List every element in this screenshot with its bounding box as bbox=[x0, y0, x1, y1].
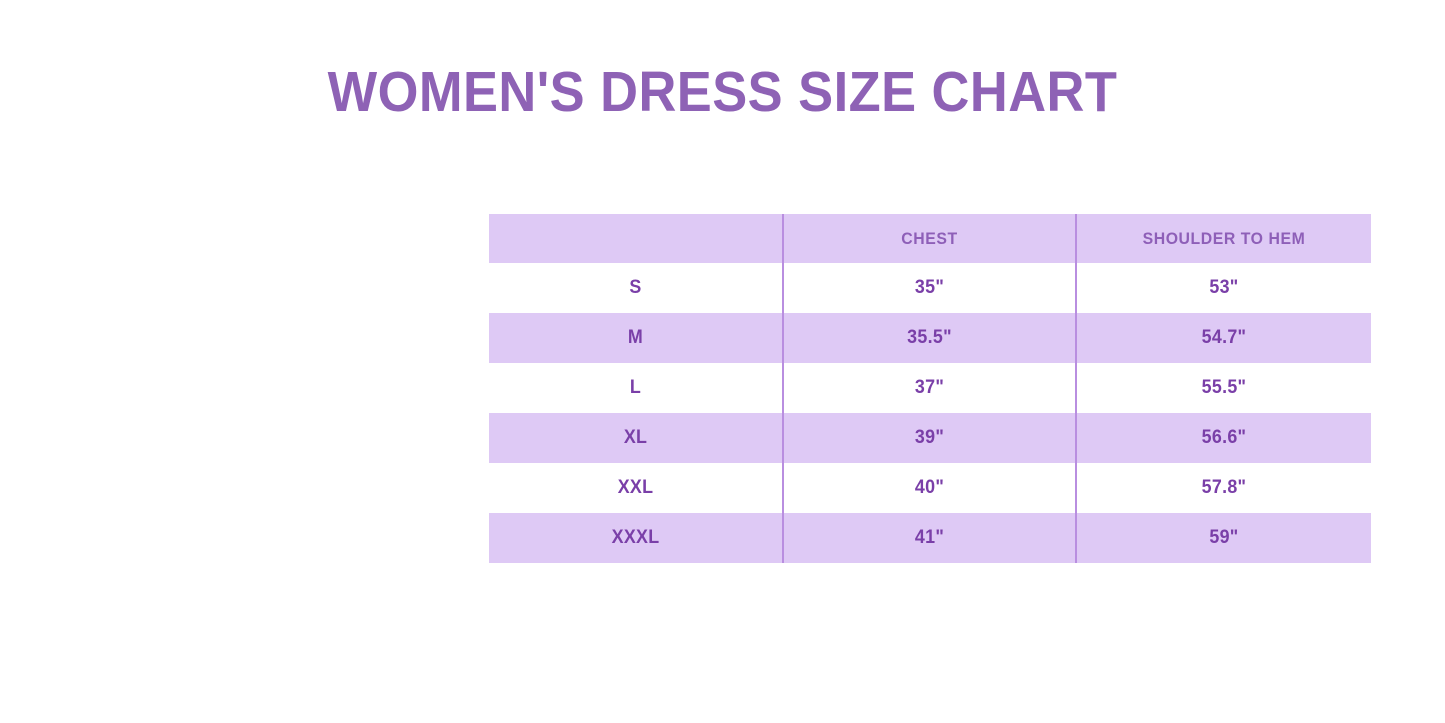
cell-chest: 39" bbox=[792, 413, 1067, 463]
column-header-chest: CHEST bbox=[793, 214, 1065, 263]
cell-chest: 35.5" bbox=[792, 313, 1067, 363]
cell-size: XXXL bbox=[498, 513, 774, 563]
cell-chest: 35" bbox=[792, 263, 1067, 313]
table-row: S 35" 53" bbox=[489, 263, 1371, 313]
cell-chest: 40" bbox=[792, 463, 1067, 513]
size-chart-table: CHEST SHOULDER TO HEM S 35" 53" M 35.5" … bbox=[489, 214, 1371, 563]
table-row: M 35.5" 54.7" bbox=[489, 313, 1371, 363]
table-header: CHEST SHOULDER TO HEM bbox=[489, 214, 1371, 263]
table-body: S 35" 53" M 35.5" 54.7" L 37" 55.5" XL 3… bbox=[489, 263, 1371, 563]
cell-size: L bbox=[498, 363, 774, 413]
cell-size: M bbox=[498, 313, 774, 363]
column-header-shoulder-to-hem: SHOULDER TO HEM bbox=[1086, 214, 1360, 263]
cell-shoulder-to-hem: 55.5" bbox=[1085, 363, 1362, 413]
table-row: XL 39" 56.6" bbox=[489, 413, 1371, 463]
cell-chest: 41" bbox=[792, 513, 1067, 563]
cell-shoulder-to-hem: 57.8" bbox=[1085, 463, 1362, 513]
table-header-row: CHEST SHOULDER TO HEM bbox=[489, 214, 1371, 263]
table-row: XXXL 41" 59" bbox=[489, 513, 1371, 563]
table-row: XXL 40" 57.8" bbox=[489, 463, 1371, 513]
column-header-size bbox=[499, 214, 772, 263]
cell-size: S bbox=[498, 263, 774, 313]
cell-shoulder-to-hem: 59" bbox=[1085, 513, 1362, 563]
page-title: WOMEN'S DRESS SIZE CHART bbox=[58, 56, 1387, 128]
cell-shoulder-to-hem: 53" bbox=[1085, 263, 1362, 313]
cell-shoulder-to-hem: 56.6" bbox=[1085, 413, 1362, 463]
cell-chest: 37" bbox=[792, 363, 1067, 413]
cell-size: XL bbox=[498, 413, 774, 463]
cell-shoulder-to-hem: 54.7" bbox=[1085, 313, 1362, 363]
cell-size: XXL bbox=[498, 463, 774, 513]
table-row: L 37" 55.5" bbox=[489, 363, 1371, 413]
